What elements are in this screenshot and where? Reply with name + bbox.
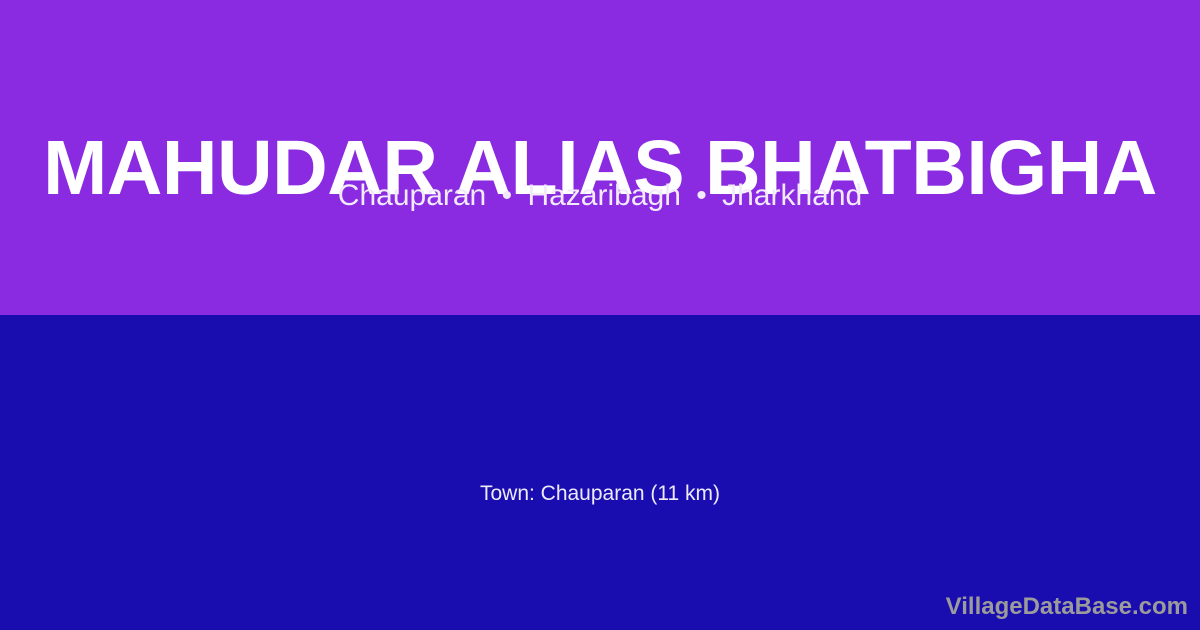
breadcrumb: Chauparan • Hazaribagh • Jharkhand bbox=[0, 181, 1200, 211]
breadcrumb-block: Chauparan bbox=[338, 179, 486, 212]
breadcrumb-separator-icon: • bbox=[689, 179, 714, 212]
site-watermark: VillageDataBase.com bbox=[946, 595, 1188, 619]
breadcrumb-district: Hazaribagh bbox=[527, 179, 680, 212]
body-panel: Town: Chauparan (11 km) bbox=[0, 315, 1200, 630]
breadcrumb-separator-icon: • bbox=[495, 179, 520, 212]
header-banner: MAHUDAR ALIAS BHATBIGHA Chauparan • Haza… bbox=[0, 0, 1200, 315]
breadcrumb-state: Jharkhand bbox=[722, 179, 862, 212]
village-info-card: MAHUDAR ALIAS BHATBIGHA Chauparan • Haza… bbox=[0, 0, 1200, 630]
nearest-town-label: Town: Chauparan (11 km) bbox=[0, 483, 1200, 504]
